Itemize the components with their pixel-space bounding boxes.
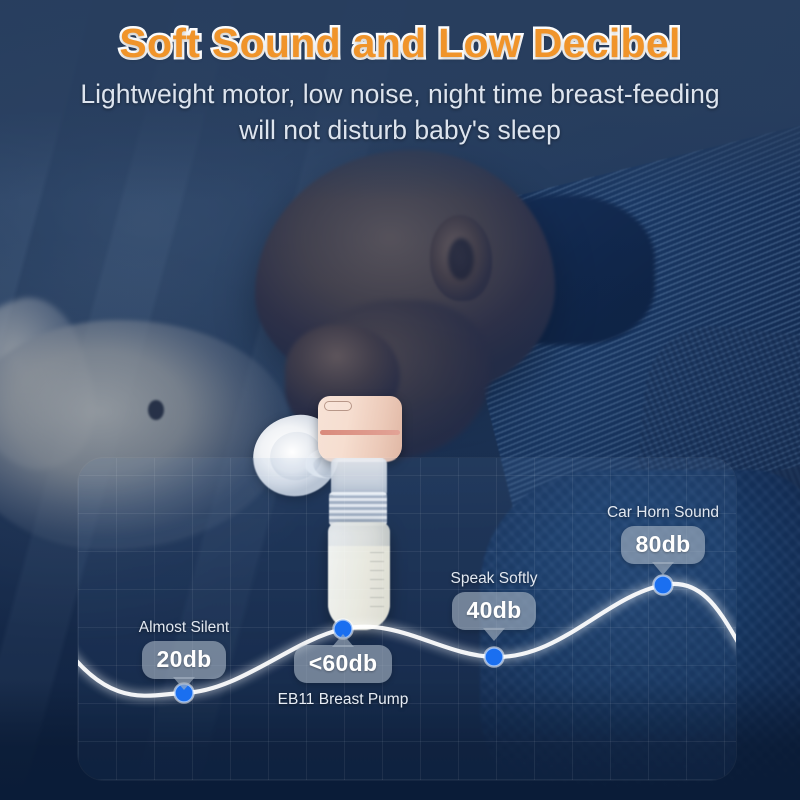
marker-car-horn-sound: Car Horn Sound 80db	[583, 504, 743, 564]
marker-almost-silent: Almost Silent 20db	[104, 619, 264, 679]
marker-value-badge: 20db	[142, 641, 227, 679]
marker-speak-softly: Speak Softly 40db	[414, 570, 574, 630]
brand-logo	[324, 401, 352, 411]
marker-value-badge: 40db	[452, 592, 537, 630]
page-subtitle: Lightweight motor, low noise, night time…	[0, 77, 800, 149]
promo-banner: Soft Sound and Low Decibel Lightweight m…	[0, 0, 800, 800]
marker-value-badge: 80db	[621, 526, 706, 564]
header: Soft Sound and Low Decibel Lightweight m…	[0, 0, 800, 149]
pump-motor-unit	[318, 396, 402, 462]
marker-caption: Speak Softly	[414, 570, 574, 588]
marker-caption: Car Horn Sound	[583, 504, 743, 522]
page-title: Soft Sound and Low Decibel	[0, 22, 800, 65]
marker-caption: Almost Silent	[104, 619, 264, 637]
marker-value-badge: <60db	[294, 645, 393, 683]
marker-eb11-breast-pump: <60db EB11 Breast Pump	[263, 645, 423, 709]
marker-sub-caption: EB11 Breast Pump	[263, 690, 423, 709]
